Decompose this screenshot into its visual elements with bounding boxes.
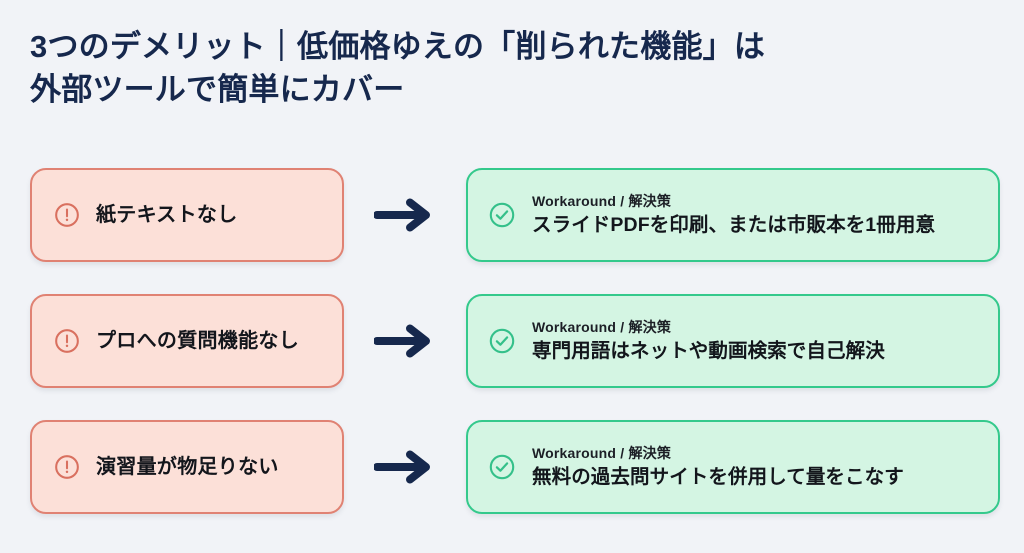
arrow-right-container xyxy=(344,321,466,361)
check-circle-icon xyxy=(488,201,516,229)
arrow-right-icon xyxy=(374,195,436,235)
problem-solution-row: 演習量が物足りない Workaroun xyxy=(30,420,1000,514)
alert-circle-icon xyxy=(54,454,80,480)
check-circle-icon xyxy=(488,453,516,481)
problem-card: 紙テキストなし xyxy=(30,168,344,262)
solution-kicker: Workaround / 解決策 xyxy=(532,192,935,211)
problem-solution-list: 紙テキストなし Workaround xyxy=(30,168,1000,514)
alert-circle-icon xyxy=(54,328,80,354)
solution-label-text: 専門用語はネットや動画検索で自己解決 xyxy=(532,339,885,364)
solution-label-text: スライドPDFを印刷、または市販本を1冊用意 xyxy=(532,213,935,238)
solution-body: Workaround / 解決策 専門用語はネットや動画検索で自己解決 xyxy=(532,318,885,364)
solution-card: Workaround / 解決策 無料の過去問サイトを併用して量をこなす xyxy=(466,420,1000,514)
solution-card: Workaround / 解決策 スライドPDFを印刷、または市販本を1冊用意 xyxy=(466,168,1000,262)
problem-solution-row: 紙テキストなし Workaround xyxy=(30,168,1000,262)
problem-label: 演習量が物足りない xyxy=(96,454,279,480)
solution-body: Workaround / 解決策 無料の過去問サイトを併用して量をこなす xyxy=(532,444,904,490)
arrow-right-container xyxy=(344,195,466,235)
alert-circle-icon xyxy=(54,202,80,228)
problem-card: 演習量が物足りない xyxy=(30,420,344,514)
page-title: 3つのデメリット｜低価格ゆえの「削られた機能」は 外部ツールで簡単にカバー xyxy=(30,26,990,112)
page-title-line-1: 3つのデメリット｜低価格ゆえの「削られた機能」は xyxy=(30,26,990,69)
arrow-right-icon xyxy=(374,321,436,361)
solution-card: Workaround / 解決策 専門用語はネットや動画検索で自己解決 xyxy=(466,294,1000,388)
solution-body: Workaround / 解決策 スライドPDFを印刷、または市販本を1冊用意 xyxy=(532,192,935,238)
solution-kicker: Workaround / 解決策 xyxy=(532,318,885,337)
arrow-right-icon xyxy=(374,447,436,487)
solution-label-text: 無料の過去問サイトを併用して量をこなす xyxy=(532,465,904,490)
problem-solution-row: プロへの質問機能なし Workarou xyxy=(30,294,1000,388)
problem-card: プロへの質問機能なし xyxy=(30,294,344,388)
problem-label: 紙テキストなし xyxy=(96,202,238,228)
problem-label: プロへの質問機能なし xyxy=(96,328,299,354)
arrow-right-container xyxy=(344,447,466,487)
page-title-line-2: 外部ツールで簡単にカバー xyxy=(30,69,990,112)
solution-kicker: Workaround / 解決策 xyxy=(532,444,904,463)
slide-root: 3つのデメリット｜低価格ゆえの「削られた機能」は 外部ツールで簡単にカバー 紙テ… xyxy=(0,0,1024,553)
check-circle-icon xyxy=(488,327,516,355)
